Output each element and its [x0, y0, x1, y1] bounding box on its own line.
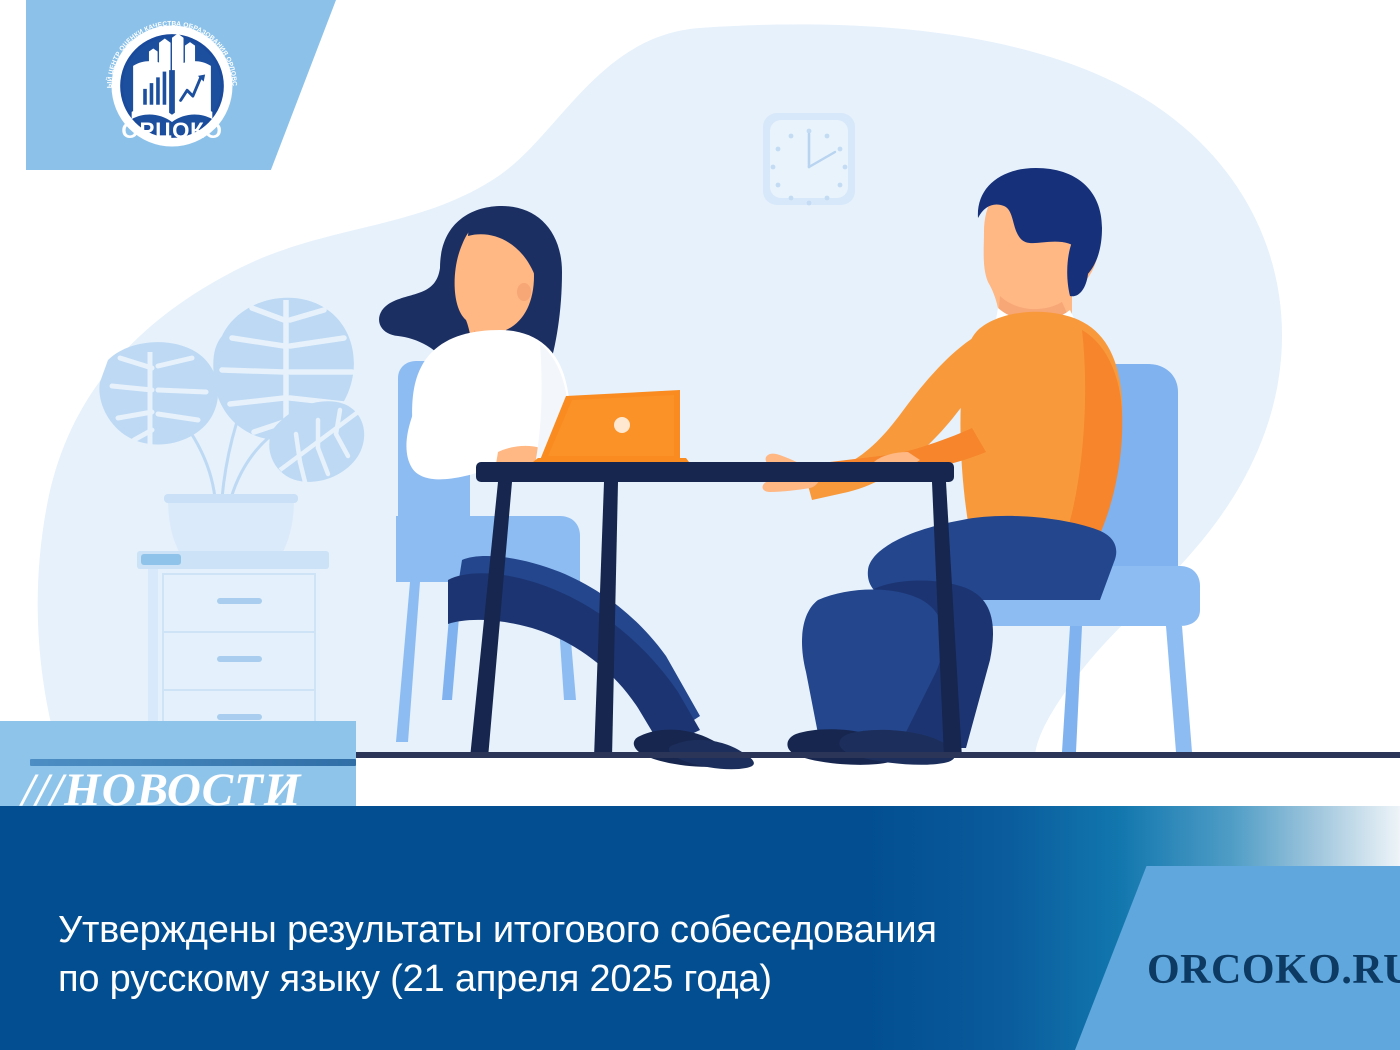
logo-acronym: ОРЦОКО [121, 118, 222, 143]
poster-canvas: РЕГИОНАЛЬНЫЙ ЦЕНТР ОЦЕНКИ КАЧЕСТВА ОБРАЗ… [0, 0, 1400, 1050]
site-url-label[interactable]: ORCOKO.RU [1147, 946, 1400, 994]
headline-line-1: Утверждены результаты итогового собеседо… [58, 906, 1068, 955]
floor-line [352, 752, 1400, 758]
wall-clock-icon [763, 113, 855, 205]
headline-line-2: по русскому языку (21 апреля 2025 года) [58, 955, 1068, 1004]
orcoko-logo-icon: РЕГИОНАЛЬНЫЙ ЦЕНТР ОЦЕНКИ КАЧЕСТВА ОБРАЗ… [100, 14, 244, 158]
news-headline: Утверждены результаты итогового собеседо… [58, 906, 1068, 1003]
